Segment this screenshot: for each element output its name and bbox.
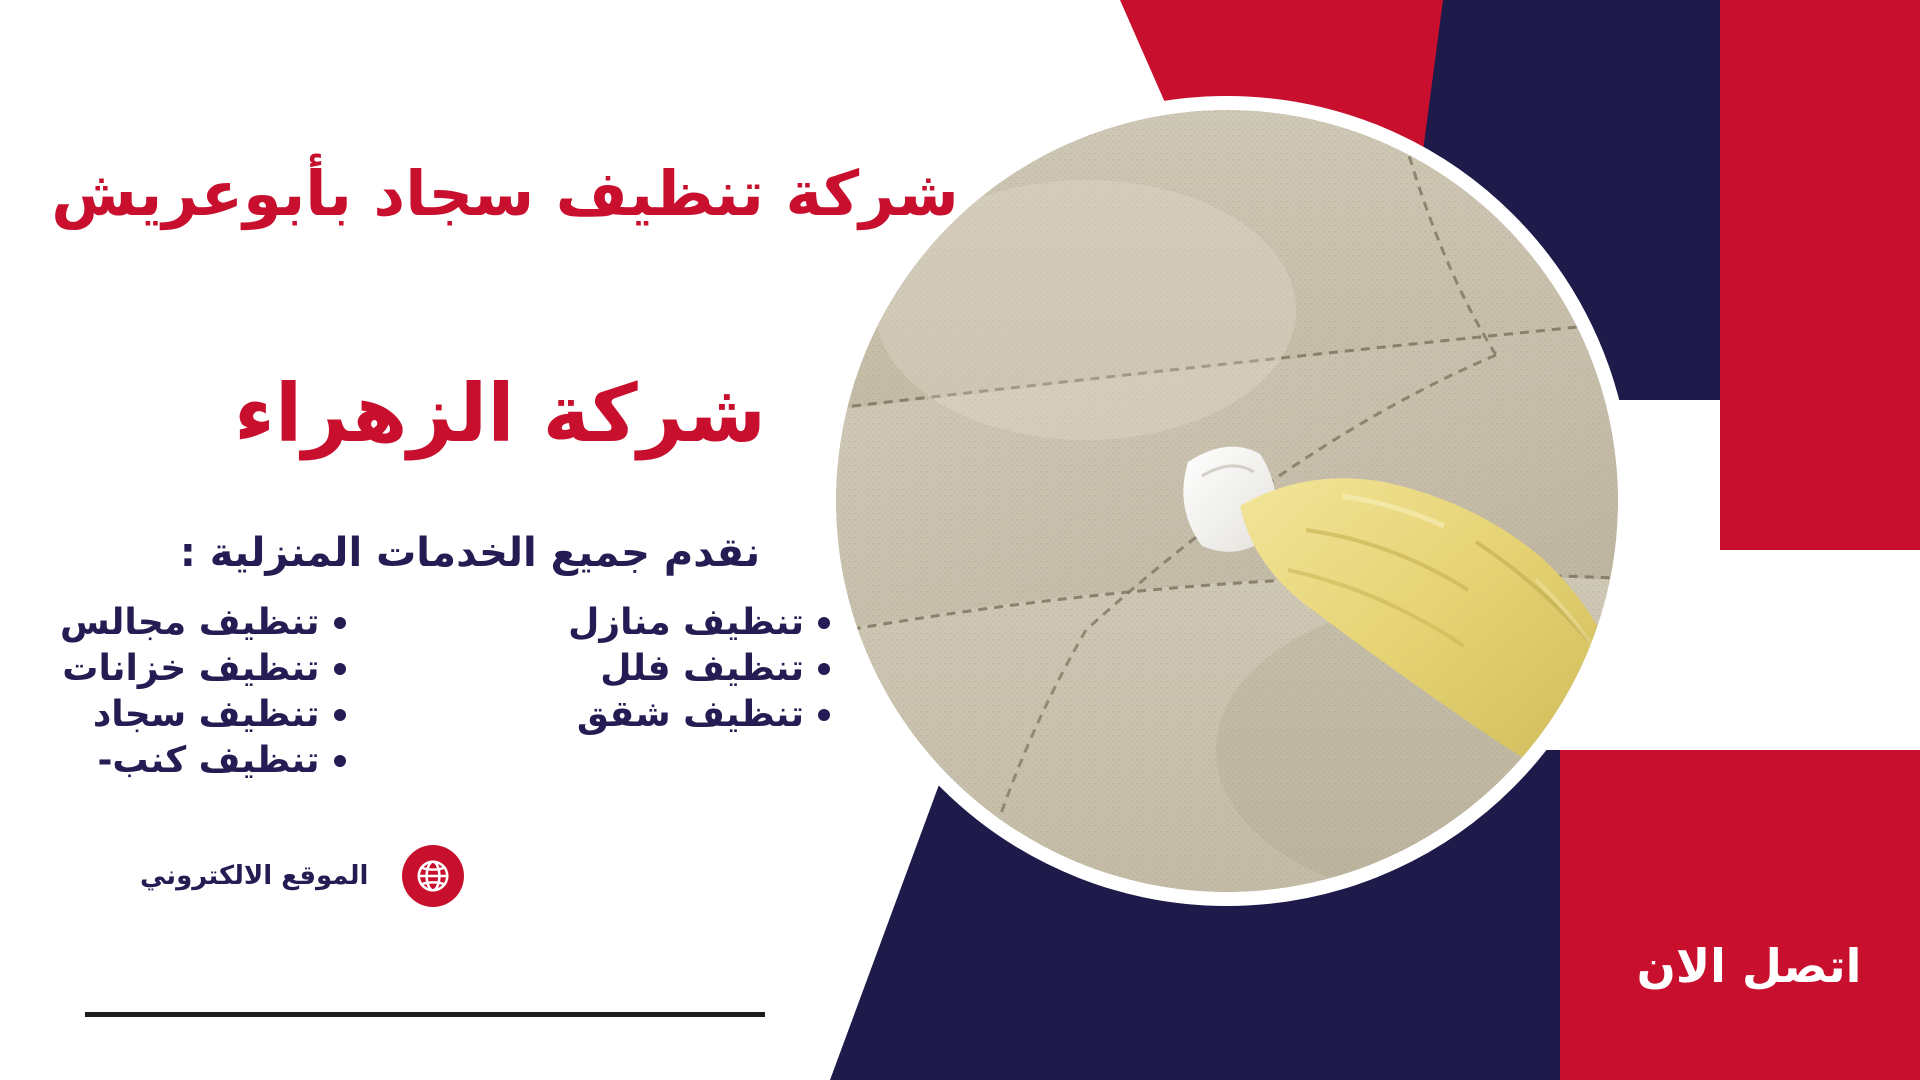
service-label: تنظيف شقق	[577, 692, 804, 738]
services-list-left: تنظيف مجالس تنظيف خزانات تنظيف سجاد تنظي…	[60, 600, 346, 784]
service-label: تنظيف سجاد	[93, 692, 320, 738]
list-item: تنظيف كنب-	[60, 738, 346, 784]
bullet-icon	[818, 709, 830, 721]
service-label: تنظيف كنب-	[97, 738, 319, 784]
headline: شركة تنظيف سجاد بأبوعريش	[40, 158, 970, 229]
red-right-block	[1720, 0, 1920, 560]
list-item: تنظيف مجالس	[60, 600, 346, 646]
website-row[interactable]: الموقع الالكتروني	[140, 845, 464, 907]
bottom-divider	[85, 1012, 765, 1017]
call-now-button[interactable]: اتصل الان	[1584, 912, 1914, 1020]
bullet-icon	[818, 663, 830, 675]
service-label: تنظيف مجالس	[60, 600, 320, 646]
advertisement-banner: شركة تنظيف سجاد بأبوعريش شركة الزهراء نق…	[0, 0, 1920, 1080]
bullet-icon	[818, 617, 830, 629]
service-label: تنظيف منازل	[568, 600, 804, 646]
bullet-icon	[334, 709, 346, 721]
bullet-icon	[334, 617, 346, 629]
services-subtitle: نقدم جميع الخدمات المنزلية :	[120, 530, 820, 576]
service-label: تنظيف فلل	[600, 646, 804, 692]
list-item: تنظيف شقق	[568, 692, 830, 738]
list-item: تنظيف منازل	[568, 600, 830, 646]
services-lists: تنظيف منازل تنظيف فلل تنظيف شقق تنظيف مج…	[60, 600, 830, 784]
bullet-icon	[334, 663, 346, 675]
list-item: تنظيف فلل	[568, 646, 830, 692]
service-label: تنظيف خزانات	[62, 646, 319, 692]
globe-icon[interactable]	[402, 845, 464, 907]
company-name: شركة الزهراء	[120, 370, 880, 458]
list-item: تنظيف خزانات	[60, 646, 346, 692]
list-item: تنظيف سجاد	[60, 692, 346, 738]
services-list-right: تنظيف منازل تنظيف فلل تنظيف شقق	[568, 600, 830, 784]
website-label: الموقع الالكتروني	[140, 861, 368, 891]
bullet-icon	[334, 755, 346, 767]
